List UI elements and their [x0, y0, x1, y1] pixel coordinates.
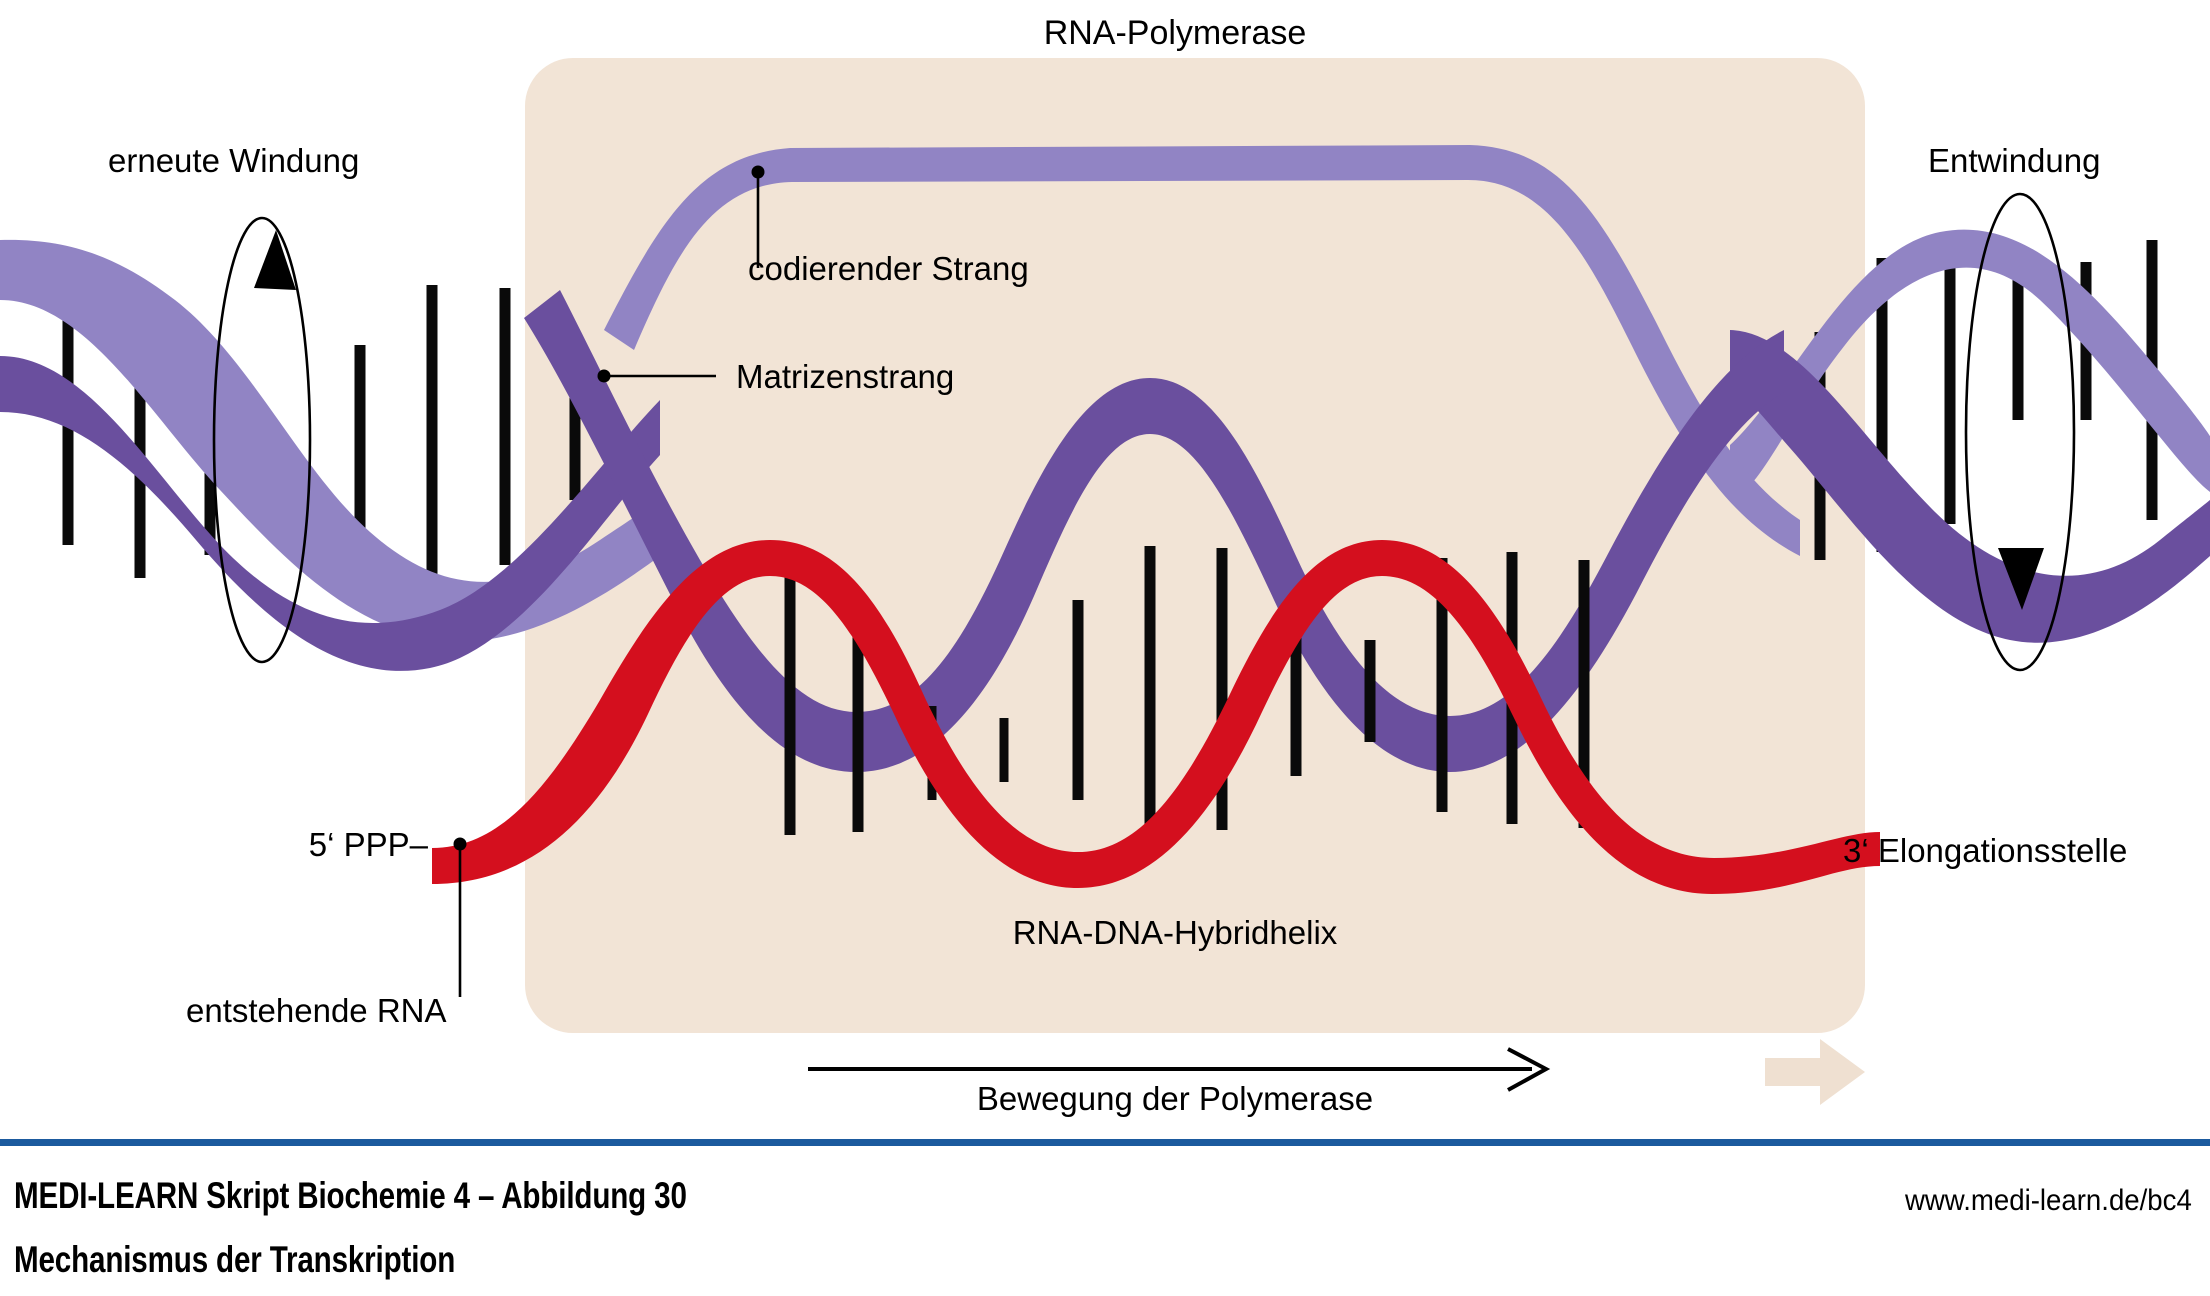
footer-divider [0, 1139, 2210, 1146]
label-elongationsstelle: 3‘ Elongationsstelle [1843, 832, 2127, 869]
label-entstehende-rna: entstehende RNA [186, 992, 447, 1029]
footer: MEDI-LEARN Skript Biochemie 4 – Abbildun… [0, 1150, 2210, 1296]
label-erneute-windung: erneute Windung [108, 142, 359, 179]
footer-title: MEDI-LEARN Skript Biochemie 4 – Abbildun… [14, 1175, 687, 1217]
label-entwindung: Entwindung [1928, 142, 2100, 179]
label-bewegung-der-polymerase: Bewegung der Polymerase [977, 1080, 1373, 1117]
footer-subtitle: Mechanismus der Transkription [14, 1239, 455, 1281]
label-codierender-strang: codierender Strang [748, 250, 1029, 287]
label-matrizenstrang: Matrizenstrang [736, 358, 954, 395]
label-rna-5-end: 5‘ PPP– [309, 826, 429, 863]
figure-root: erneute Windung Entwindung [0, 0, 2210, 1296]
transcription-diagram: erneute Windung Entwindung [0, 0, 2210, 1296]
block-arrow-right-icon [1765, 1039, 1865, 1105]
label-hybridhelix: RNA-DNA-Hybridhelix [1013, 914, 1338, 951]
footer-url[interactable]: www.medi-learn.de/bc4 [1905, 1184, 2192, 1218]
label-rna-polymerase: RNA-Polymerase [1044, 14, 1307, 52]
polymerase-panel [525, 58, 1865, 1033]
